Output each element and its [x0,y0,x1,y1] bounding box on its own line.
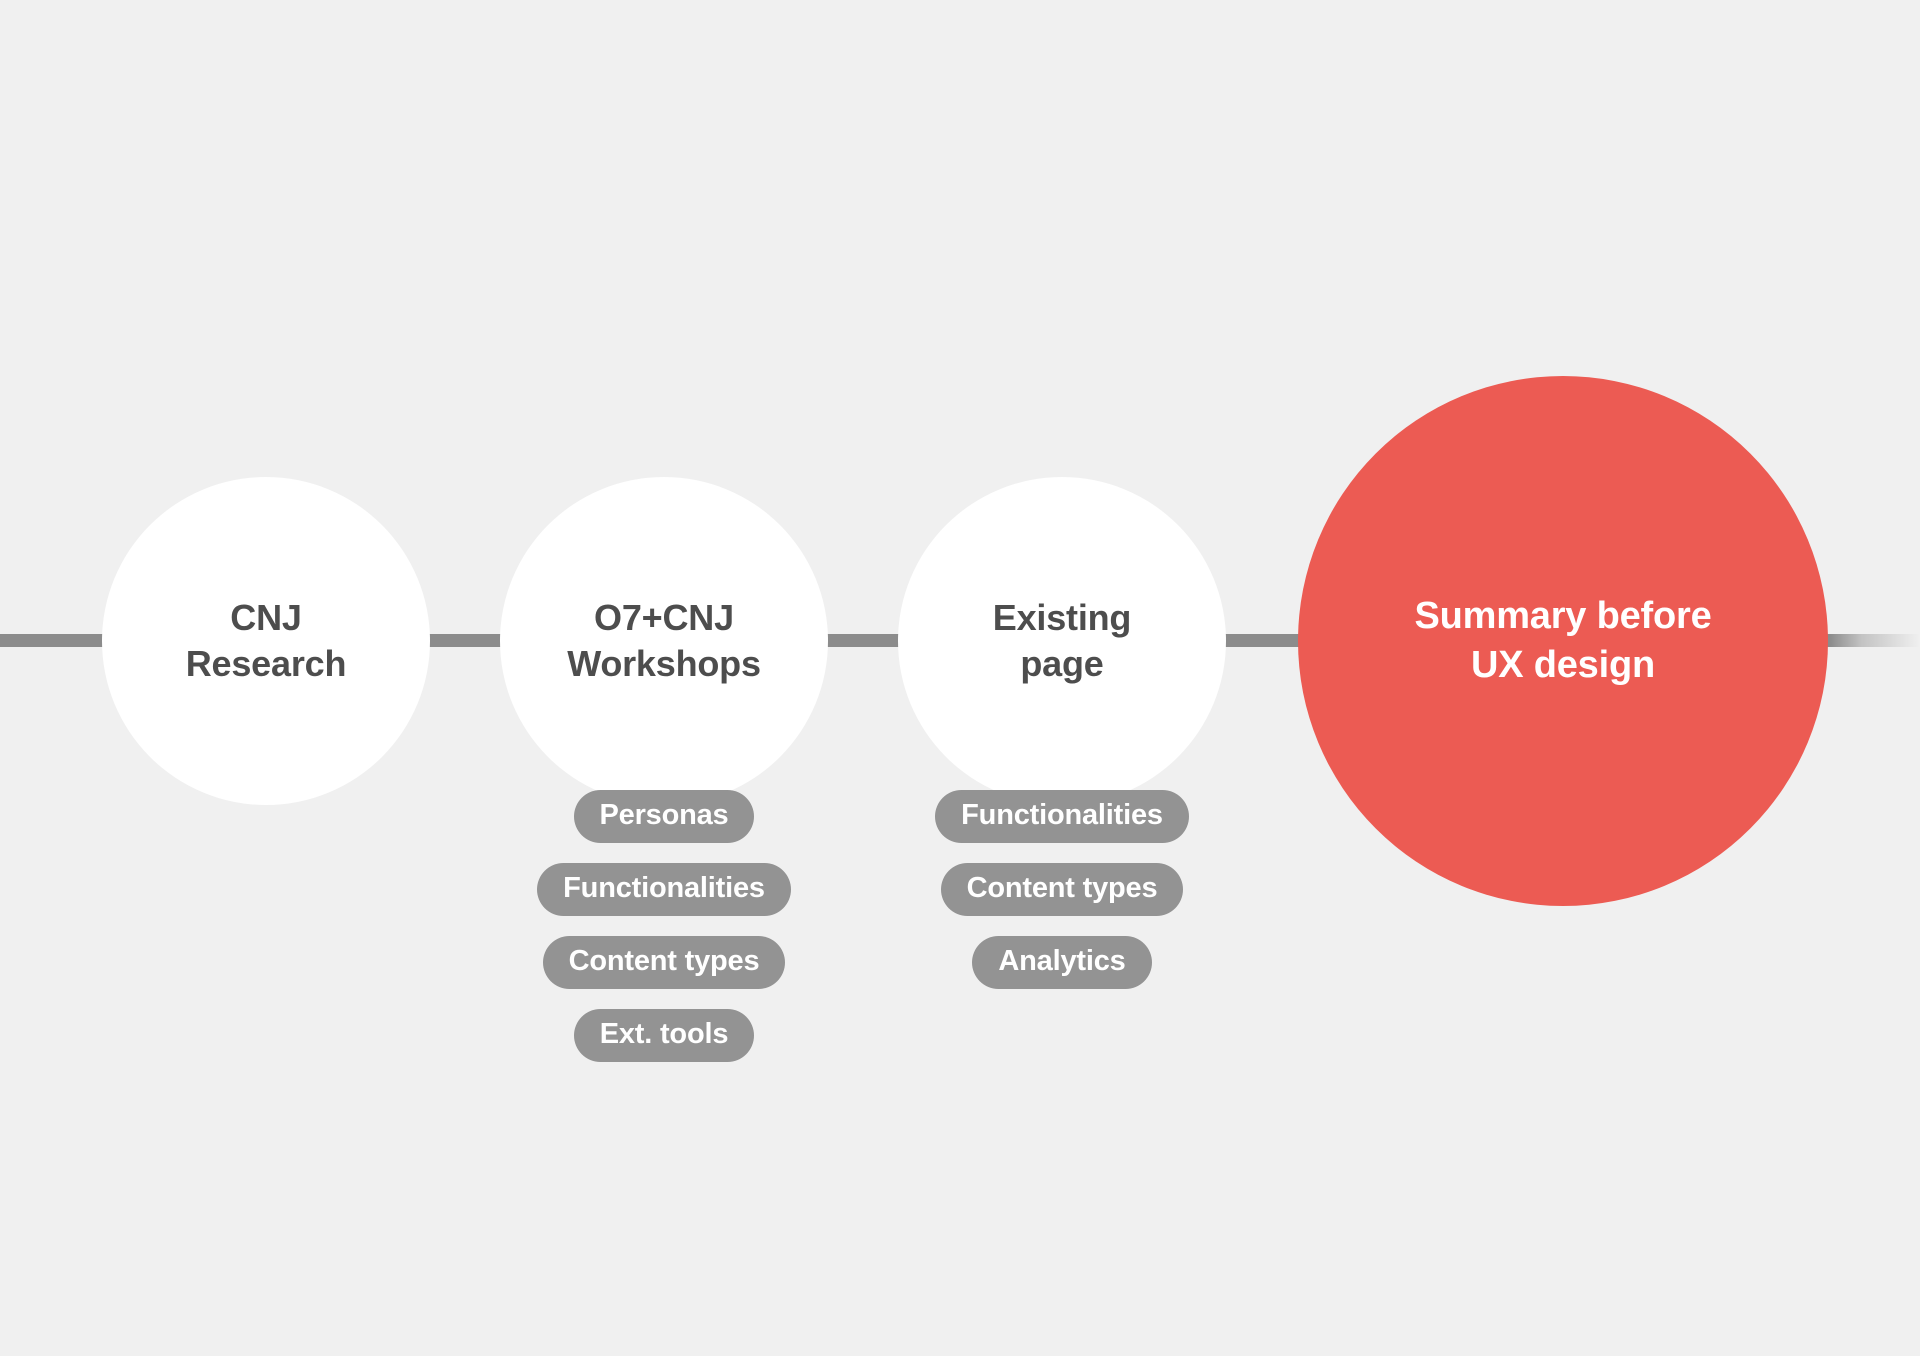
tag-pill[interactable]: Functionalities [935,790,1189,843]
node-label: CNJ Research [186,595,347,687]
timeline-track-fade [1830,634,1920,647]
node-existing-page[interactable]: Existing page [898,477,1226,805]
tag-pill[interactable]: Content types [543,936,786,989]
node-label: O7+CNJ Workshops [567,595,761,687]
tag-pill[interactable]: Functionalities [537,863,791,916]
diagram-canvas: CNJ Research O7+CNJ Workshops Existing p… [0,0,1920,1356]
node-summary-before-ux-design[interactable]: Summary before UX design [1298,376,1828,906]
node-label: Summary before UX design [1414,592,1711,689]
node-label: Existing page [993,595,1131,687]
tag-pill[interactable]: Content types [941,863,1184,916]
tag-pill[interactable]: Analytics [972,936,1151,989]
tag-pill[interactable]: Personas [574,790,755,843]
tag-pill[interactable]: Ext. tools [574,1009,755,1062]
tag-list-o7-cnj-workshops: PersonasFunctionalitiesContent typesExt.… [500,790,828,1062]
node-cnj-research[interactable]: CNJ Research [102,477,430,805]
tag-list-existing-page: FunctionalitiesContent typesAnalytics [898,790,1226,989]
node-o7-cnj-workshops[interactable]: O7+CNJ Workshops [500,477,828,805]
